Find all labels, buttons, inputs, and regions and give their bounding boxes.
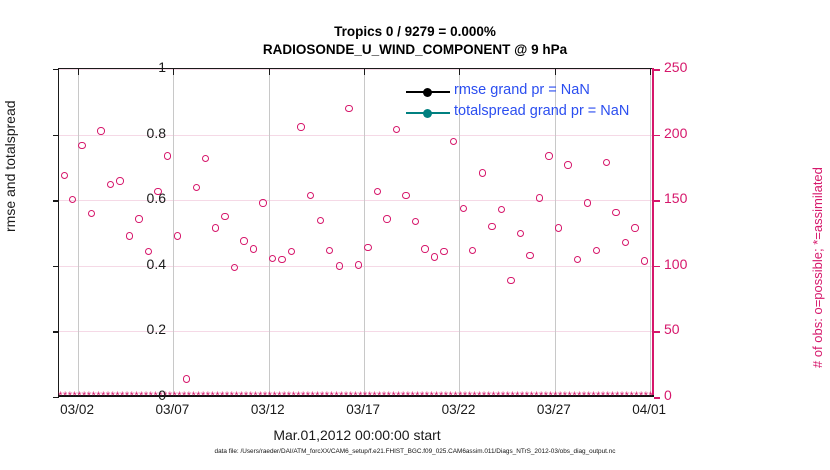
right-axis-title: # of obs: o=possible; *=assimilated: [810, 167, 825, 368]
obs-possible-marker: [183, 375, 190, 382]
obs-possible-marker: [317, 217, 324, 224]
left-axis-tick: [53, 135, 59, 136]
obs-possible-marker: [135, 215, 142, 222]
x-axis-tick-label: 03/02: [60, 402, 94, 417]
horizontal-gridline: [59, 69, 654, 70]
x-axis-tick-label: 03/27: [537, 402, 571, 417]
x-axis-title: Mar.01,2012 00:00:00 start: [0, 427, 830, 443]
left-axis-tick: [53, 200, 59, 201]
obs-possible-marker: [564, 161, 571, 168]
obs-possible-marker: [116, 177, 123, 184]
x-axis-tick-label: 04/01: [632, 402, 666, 417]
x-axis-tick-label: 03/12: [251, 402, 285, 417]
left-axis-tick-label: 0: [158, 387, 166, 403]
obs-possible-marker: [193, 184, 200, 191]
obs-possible-marker: [402, 192, 409, 199]
obs-possible-marker: [460, 205, 467, 212]
x-axis-tick-label: 03/07: [156, 402, 190, 417]
obs-possible-marker: [603, 159, 610, 166]
obs-possible-marker: [126, 232, 133, 239]
obs-possible-marker: [555, 224, 562, 231]
right-axis-tick-label: 250: [664, 59, 687, 75]
obs-possible-marker: [69, 196, 76, 203]
legend-marker-rmse: [423, 88, 432, 97]
obs-possible-marker: [517, 230, 524, 237]
left-axis-tick: [53, 69, 59, 70]
right-axis-tick-label: 200: [664, 125, 687, 141]
legend-label-totalspread: totalspread grand pr = NaN: [454, 103, 629, 119]
obs-possible-marker: [383, 215, 390, 222]
right-axis-tick-label: 50: [664, 321, 680, 337]
right-axis-tick: [654, 69, 660, 71]
right-axis-tick: [654, 200, 660, 202]
obs-possible-marker: [421, 245, 428, 252]
vertical-gridline: [364, 69, 365, 397]
left-axis-tick-label: 0.4: [147, 256, 166, 272]
obs-possible-marker: [364, 244, 371, 251]
obs-possible-marker: [78, 142, 85, 149]
obs-possible-marker: [297, 123, 304, 130]
obs-possible-marker: [507, 277, 514, 284]
obs-possible-marker: [374, 188, 381, 195]
right-axis-tick: [654, 331, 660, 333]
left-axis-tick-label: 1: [158, 59, 166, 75]
right-axis-tick: [654, 135, 660, 137]
obs-possible-marker: [97, 127, 104, 134]
obs-possible-marker: [536, 194, 543, 201]
x-axis-tick: [269, 69, 270, 75]
right-axis-tick-label: 0: [664, 387, 672, 403]
obs-possible-marker: [240, 237, 247, 244]
obs-possible-marker: [479, 169, 486, 176]
obs-possible-marker: [631, 224, 638, 231]
x-axis-tick: [78, 69, 79, 75]
obs-possible-marker: [212, 224, 219, 231]
left-axis-tick-label: 0.8: [147, 125, 166, 141]
x-axis-tick: [173, 69, 174, 75]
obs-possible-marker: [336, 262, 343, 269]
vertical-gridline: [78, 69, 79, 397]
obs-assimilated-marker: [648, 393, 654, 399]
obs-possible-marker: [355, 261, 362, 268]
left-axis-title: rmse and totalspread: [2, 100, 18, 232]
obs-possible-marker: [431, 253, 438, 260]
obs-possible-marker: [641, 257, 648, 264]
x-axis-tick-label: 03/17: [346, 402, 380, 417]
obs-possible-marker: [584, 199, 591, 206]
obs-possible-marker: [164, 152, 171, 159]
vertical-gridline: [269, 69, 270, 397]
right-axis-tick: [654, 397, 660, 399]
left-axis-tick-label: 0.6: [147, 190, 166, 206]
x-axis-tick: [459, 69, 460, 75]
obs-possible-marker: [526, 252, 533, 259]
obs-possible-marker: [612, 209, 619, 216]
obs-possible-marker: [345, 105, 352, 112]
obs-possible-marker: [278, 256, 285, 263]
left-axis-tick-label: 0.2: [147, 321, 166, 337]
right-axis-spine: [652, 68, 654, 397]
obs-possible-marker: [250, 245, 257, 252]
x-axis-title-text: Mar.01,2012 00:00:00 start: [273, 427, 440, 443]
right-axis-tick-label: 100: [664, 256, 687, 272]
legend-marker-totalspread: [423, 109, 432, 118]
obs-possible-marker: [221, 213, 228, 220]
x-axis-tick-label: 03/22: [442, 402, 476, 417]
x-axis-tick: [364, 69, 365, 75]
right-axis-tick: [654, 266, 660, 268]
left-axis-tick: [53, 266, 59, 267]
obs-possible-marker: [174, 232, 181, 239]
legend-label-rmse: rmse grand pr = NaN: [454, 82, 590, 98]
chart-title-line1: Tropics 0 / 9279 = 0.000%: [0, 24, 830, 39]
obs-possible-marker: [259, 199, 266, 206]
right-axis-tick-label: 150: [664, 190, 687, 206]
plot-figure: Tropics 0 / 9279 = 0.000% RADIOSONDE_U_W…: [0, 0, 830, 470]
data-file-footer: data file: /Users/raeder/DAI/ATM_forcXX/…: [0, 448, 830, 455]
x-axis-tick: [555, 69, 556, 75]
obs-possible-marker: [545, 152, 552, 159]
obs-possible-marker: [488, 223, 495, 230]
left-axis-tick: [53, 331, 59, 332]
chart-title-line2: RADIOSONDE_U_WIND_COMPONENT @ 9 hPa: [0, 42, 830, 57]
